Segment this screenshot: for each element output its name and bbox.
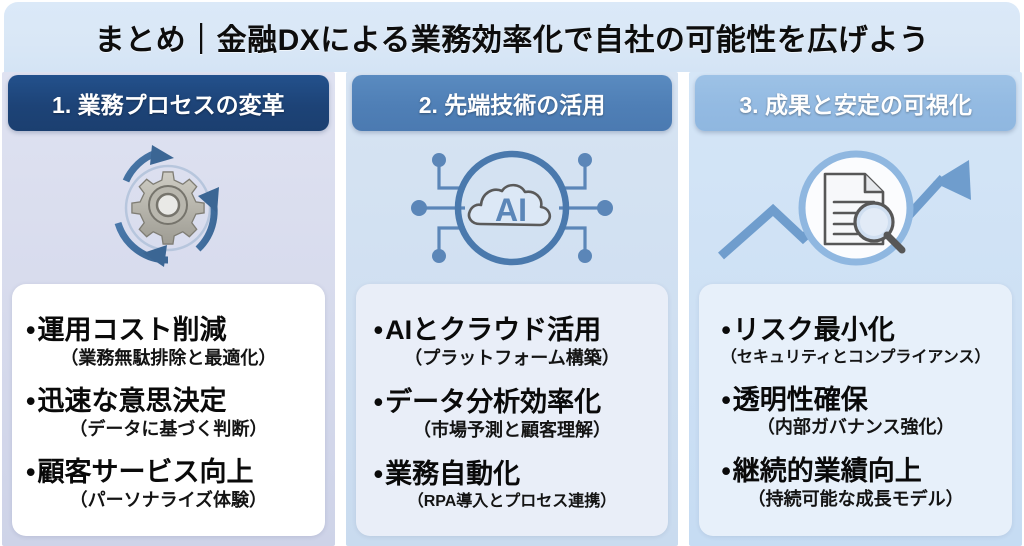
column-business-process: 1. 業務プロセスの変革 [2,72,335,546]
document-magnifier-trend-icon [711,138,1001,278]
list-item: リスク最小化 （セキュリティとコンプライアンス） [709,315,1002,367]
column-header-1: 1. 業務プロセスの変革 [8,75,329,131]
bullet-card-3: リスク最小化 （セキュリティとコンプライアンス） 透明性確保 （内部ガバナンス強… [699,284,1012,536]
bullet-sub-label: （市場予測と顧客理解） [366,420,659,442]
bullet-main-label: 運用コスト削減 [22,315,315,347]
icon-zone-2: AI [346,134,679,282]
list-item: 業務自動化 （RPA導入とプロセス連携） [366,459,659,511]
bullet-main-label: データ分析効率化 [366,387,659,419]
list-item: 運用コスト削減 （業務無駄排除と最適化） [22,315,315,369]
list-item: 顧客サービス向上 （パーソナライズ体験） [22,457,315,511]
column-header-label-3: 3. 成果と安定の可視化 [739,86,972,120]
bullet-card-1: 運用コスト削減 （業務無駄排除と最適化） 迅速な意思決定 （データに基づく判断）… [12,284,325,536]
bullet-main-label: AIとクラウド活用 [366,315,659,347]
bullet-sub-label: （業務無駄排除と最適化） [22,348,315,370]
column-advanced-technology: 2. 先端技術の活用 [346,72,679,546]
bullet-card-2: AIとクラウド活用 （プラットフォーム構築） データ分析効率化 （市場予測と顧客… [356,284,669,536]
bullet-main-label: 顧客サービス向上 [22,457,315,489]
ai-label: AI [495,192,527,228]
bullet-main-label: 業務自動化 [366,459,659,491]
bullet-sub-label: （パーソナライズ体験） [22,490,315,512]
list-item: データ分析効率化 （市場予測と顧客理解） [366,387,659,441]
bullet-sub-label: （プラットフォーム構築） [366,348,659,370]
bullet-sub-label: （データに基づく判断） [22,419,315,441]
list-item: AIとクラウド活用 （プラットフォーム構築） [366,315,659,369]
column-header-label-1: 1. 業務プロセスの変革 [52,86,285,120]
column-results-visualization: 3. 成果と安定の可視化 [689,72,1022,546]
list-item: 透明性確保 （内部ガバナンス強化） [709,385,1002,439]
columns-container: 1. 業務プロセスの変革 [0,72,1024,546]
summary-slide: まとめ｜金融DXによる業務効率化で自社の可能性を広げよう 1. 業務プロセスの変… [0,0,1024,546]
page-title: まとめ｜金融DXによる業務効率化で自社の可能性を広げよう [95,15,930,59]
slide-title-band: まとめ｜金融DXによる業務効率化で自社の可能性を広げよう [4,2,1020,72]
column-header-label-2: 2. 先端技術の活用 [419,86,606,120]
list-item: 継続的業績向上 （持続可能な成長モデル） [709,456,1002,510]
column-header-2: 2. 先端技術の活用 [352,75,673,131]
gear-cycle-icon [98,139,238,277]
bullet-sub-label: （セキュリティとコンプライアンス） [709,348,1002,367]
list-item: 迅速な意思決定 （データに基づく判断） [22,386,315,440]
ai-cloud-circuit-icon: AI [407,142,617,274]
icon-zone-3 [689,134,1022,282]
bullet-sub-label: （RPA導入とプロセス連携） [366,492,659,511]
bullet-main-label: 透明性確保 [709,385,1002,417]
bullet-main-label: リスク最小化 [709,315,1002,347]
bullet-main-label: 迅速な意思決定 [22,386,315,418]
bullet-main-label: 継続的業績向上 [709,456,1002,488]
icon-zone-1 [2,134,335,282]
bullet-sub-label: （内部ガバナンス強化） [709,417,1002,439]
bullet-sub-label: （持続可能な成長モデル） [709,489,1002,511]
column-header-3: 3. 成果と安定の可視化 [695,75,1016,131]
